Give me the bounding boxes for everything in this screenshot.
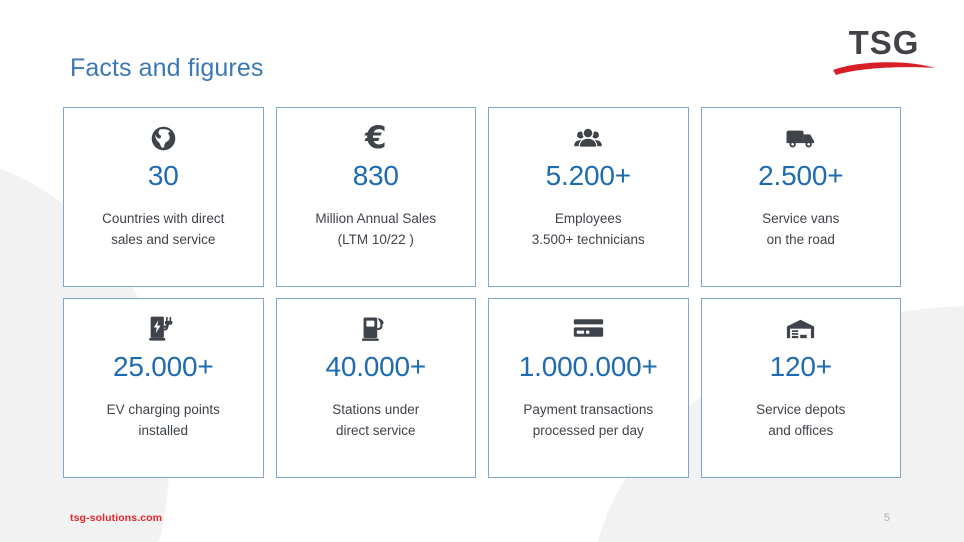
warehouse-depot-icon: [785, 312, 816, 346]
fact-value: 40.000+: [325, 350, 426, 384]
fact-description-line: Service depots: [756, 400, 845, 421]
fact-description: Countries with direct sales and service: [96, 209, 230, 251]
fact-description: Payment transactions processed per day: [517, 400, 659, 442]
fact-description: Stations under direct service: [326, 400, 425, 442]
fact-description: Employees 3.500+ technicians: [526, 209, 651, 251]
fact-description-line: 3.500+ technicians: [532, 230, 645, 251]
fact-description: EV charging points installed: [101, 400, 226, 442]
fact-value: 30: [148, 159, 179, 193]
fact-description-line: EV charging points: [107, 400, 220, 421]
ev-charging-station-icon: [148, 312, 178, 346]
fact-description-line: installed: [107, 421, 220, 442]
fact-value: 2.500+: [758, 159, 843, 193]
fact-description-line: (LTM 10/22 ): [315, 230, 436, 251]
fact-description: Service vans on the road: [756, 209, 845, 251]
fact-value: 25.000+: [113, 350, 214, 384]
footer-website-url[interactable]: tsg-solutions.com: [70, 512, 162, 524]
fact-description-line: Stations under: [332, 400, 419, 421]
fact-description-line: on the road: [762, 230, 839, 251]
facts-grid: 30 Countries with direct sales and servi…: [63, 107, 901, 478]
fact-description-line: Employees: [532, 209, 645, 230]
euro-icon: €: [365, 121, 387, 155]
fact-description-line: direct service: [332, 421, 419, 442]
fact-description-line: Payment transactions: [523, 400, 653, 421]
fact-value: 5.200+: [546, 159, 631, 193]
fact-value: 830: [353, 159, 399, 193]
fact-description-line: sales and service: [102, 230, 224, 251]
page-title: Facts and figures: [70, 54, 263, 83]
fact-card-depots: 120+ Service depots and offices: [701, 298, 902, 478]
fact-description-line: Million Annual Sales: [315, 209, 436, 230]
fact-description-line: processed per day: [523, 421, 653, 442]
fact-card-stations: 40.000+ Stations under direct service: [276, 298, 477, 478]
tsg-logo: TSG: [830, 18, 938, 78]
svg-text:TSG: TSG: [849, 24, 920, 61]
fact-description-line: Service vans: [762, 209, 839, 230]
fact-description-line: and offices: [756, 421, 845, 442]
slide-canvas: TSG Facts and figures 30 Countries with …: [0, 0, 964, 542]
fact-value: 1.000.000+: [519, 350, 658, 384]
delivery-van-icon: [785, 121, 817, 155]
globe-icon: [150, 121, 177, 155]
people-group-icon: [573, 121, 603, 155]
fact-card-payments: 1.000.000+ Payment transactions processe…: [488, 298, 689, 478]
fact-value: 120+: [770, 350, 832, 384]
fact-description: Million Annual Sales (LTM 10/22 ): [309, 209, 442, 251]
fact-description: Service depots and offices: [750, 400, 851, 442]
fact-description-line: Countries with direct: [102, 209, 224, 230]
fact-card-employees: 5.200+ Employees 3.500+ technicians: [488, 107, 689, 287]
credit-card-icon: [573, 312, 604, 346]
fact-card-ev-charging: 25.000+ EV charging points installed: [63, 298, 264, 478]
fact-card-annual-sales: € 830 Million Annual Sales (LTM 10/22 ): [276, 107, 477, 287]
page-number: 5: [884, 512, 890, 524]
fact-card-countries: 30 Countries with direct sales and servi…: [63, 107, 264, 287]
fuel-pump-icon: [361, 312, 390, 346]
fact-card-service-vans: 2.500+ Service vans on the road: [701, 107, 902, 287]
